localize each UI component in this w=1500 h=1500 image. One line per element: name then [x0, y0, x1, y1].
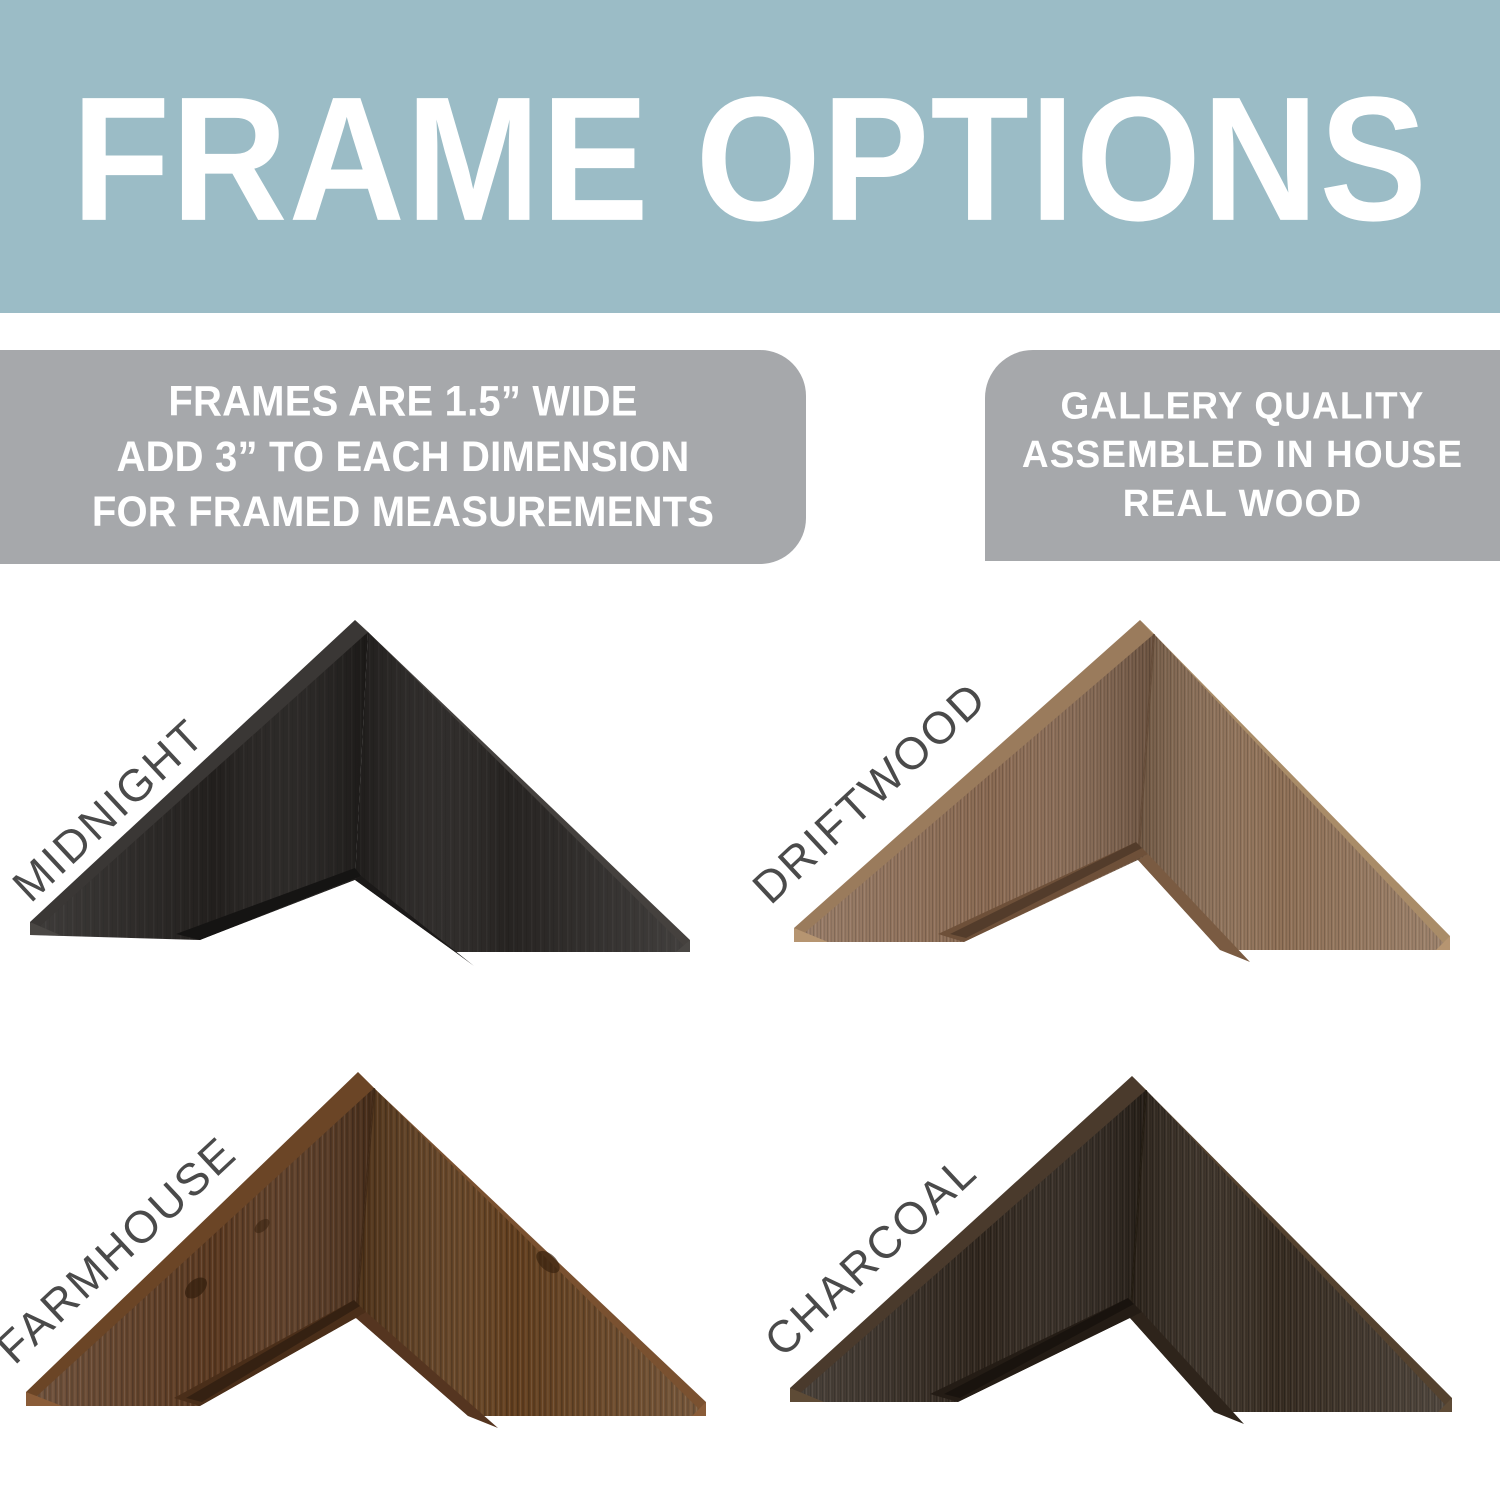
- frame-swatch-farmhouse[interactable]: FARMHOUSE: [0, 1050, 750, 1450]
- frame-swatch-driftwood[interactable]: DRIFTWOOD: [750, 590, 1500, 990]
- info-box-quality: GALLERY QUALITY ASSEMBLED IN HOUSE REAL …: [985, 350, 1500, 561]
- info-box-measurements: FRAMES ARE 1.5” WIDE ADD 3” TO EACH DIME…: [0, 350, 806, 564]
- frame-swatch-midnight[interactable]: MIDNIGHT: [0, 590, 750, 990]
- frame-swatch-charcoal[interactable]: CHARCOAL: [750, 1050, 1500, 1450]
- page-title: FRAME OPTIONS: [72, 69, 1428, 244]
- infographic-page: FRAME OPTIONS FRAMES ARE 1.5” WIDE ADD 3…: [0, 0, 1500, 1500]
- measurement-info-text: FRAMES ARE 1.5” WIDE ADD 3” TO EACH DIME…: [92, 374, 714, 539]
- quality-info-text: GALLERY QUALITY ASSEMBLED IN HOUSE REAL …: [1022, 382, 1463, 529]
- header-banner: FRAME OPTIONS: [0, 0, 1500, 313]
